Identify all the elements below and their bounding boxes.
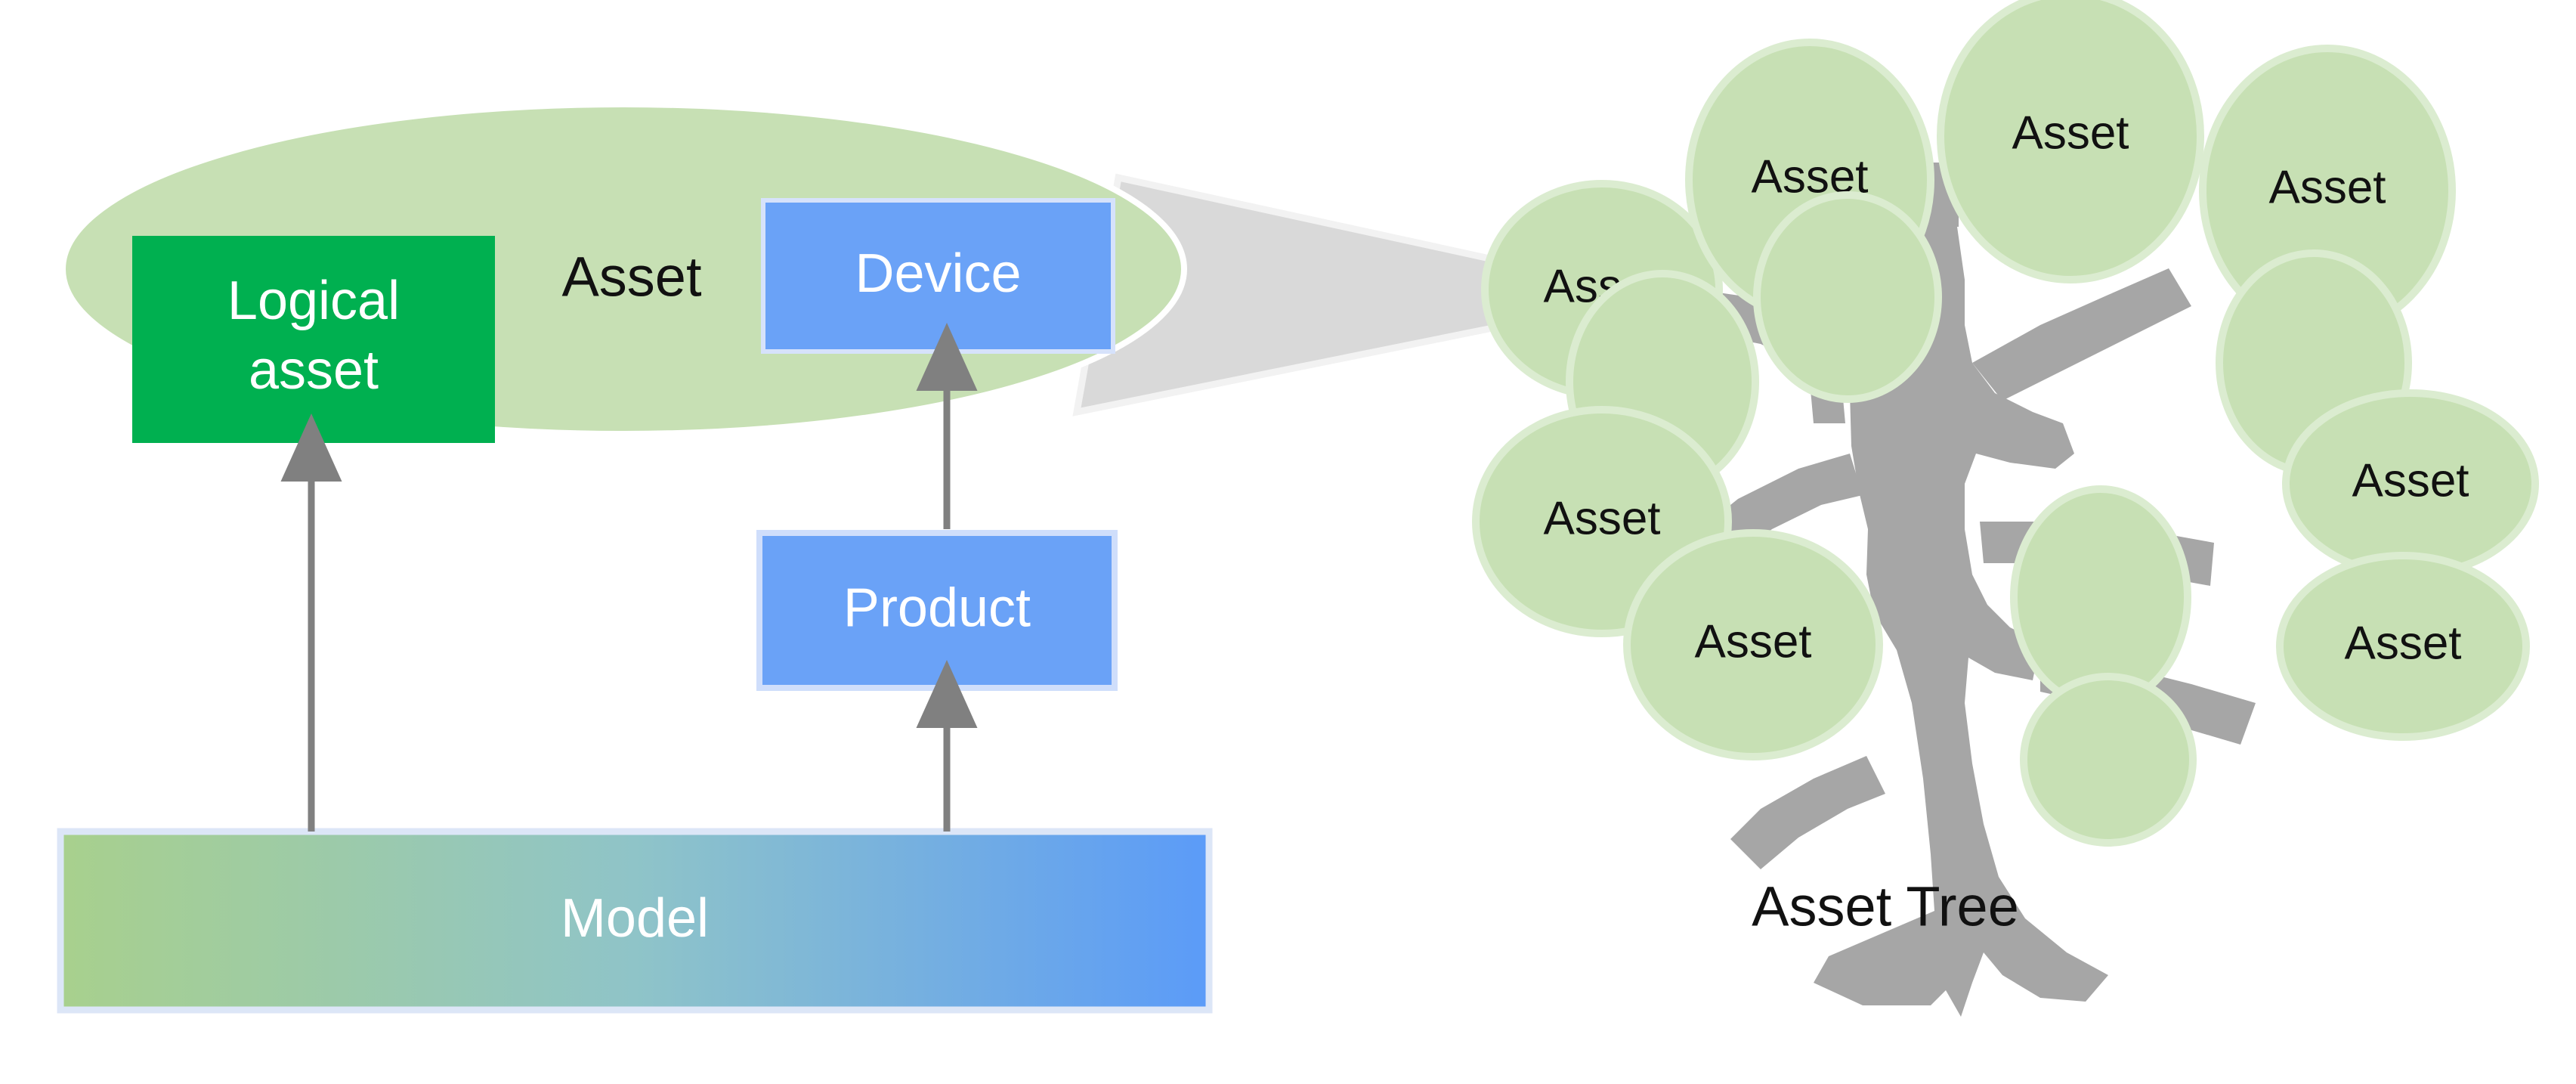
- device-label: Device: [855, 243, 1021, 304]
- branch-left-lower: [1730, 756, 1885, 869]
- branch-right-upper: [1972, 268, 2191, 401]
- asset-leaf-ellipse: [2024, 677, 2193, 843]
- asset-leaf-ellipse: [2014, 489, 2188, 705]
- asset-leaf-ellipse: [1757, 195, 1938, 399]
- product-label: Product: [843, 578, 1031, 639]
- asset-leaf-label: Asset: [2012, 107, 2129, 159]
- asset-leaf-label: Asset: [2352, 454, 2469, 506]
- asset-model-panel: Logical asset Asset Device Product Model: [60, 104, 1209, 1010]
- logical-asset-label-line2: asset: [249, 340, 379, 401]
- asset-tree: AssetAssetAssetAssetAssetAssetAssetAsset…: [1476, 0, 2535, 1017]
- asset-leaf-label: Asset: [2344, 617, 2461, 669]
- asset-leaf[interactable]: Asset: [1627, 533, 1879, 757]
- logical-asset-box[interactable]: [132, 236, 495, 443]
- model-label: Model: [561, 888, 709, 949]
- asset-model-diagram: AssetAssetAssetAssetAssetAssetAssetAsset…: [0, 0, 2576, 1084]
- asset-leaf-label: Asset: [2268, 161, 2386, 213]
- asset-leaf[interactable]: Asset: [2286, 393, 2535, 575]
- diagram-canvas: AssetAssetAssetAssetAssetAssetAssetAsset…: [0, 0, 2576, 1084]
- asset-leaf-label: Asset: [1543, 492, 1660, 544]
- asset-leaf[interactable]: [1757, 195, 1938, 399]
- asset-leaf[interactable]: [2014, 489, 2188, 705]
- asset-leaf-label: Asset: [1694, 615, 1811, 667]
- asset-leaf[interactable]: Asset: [1941, 0, 2200, 280]
- asset-leaf[interactable]: [2024, 677, 2193, 843]
- logical-asset-label-line1: Logical: [227, 271, 400, 331]
- asset-tree-title: Asset Tree: [1752, 875, 2019, 938]
- asset-label: Asset: [561, 246, 702, 308]
- asset-leaf[interactable]: Asset: [2280, 556, 2526, 737]
